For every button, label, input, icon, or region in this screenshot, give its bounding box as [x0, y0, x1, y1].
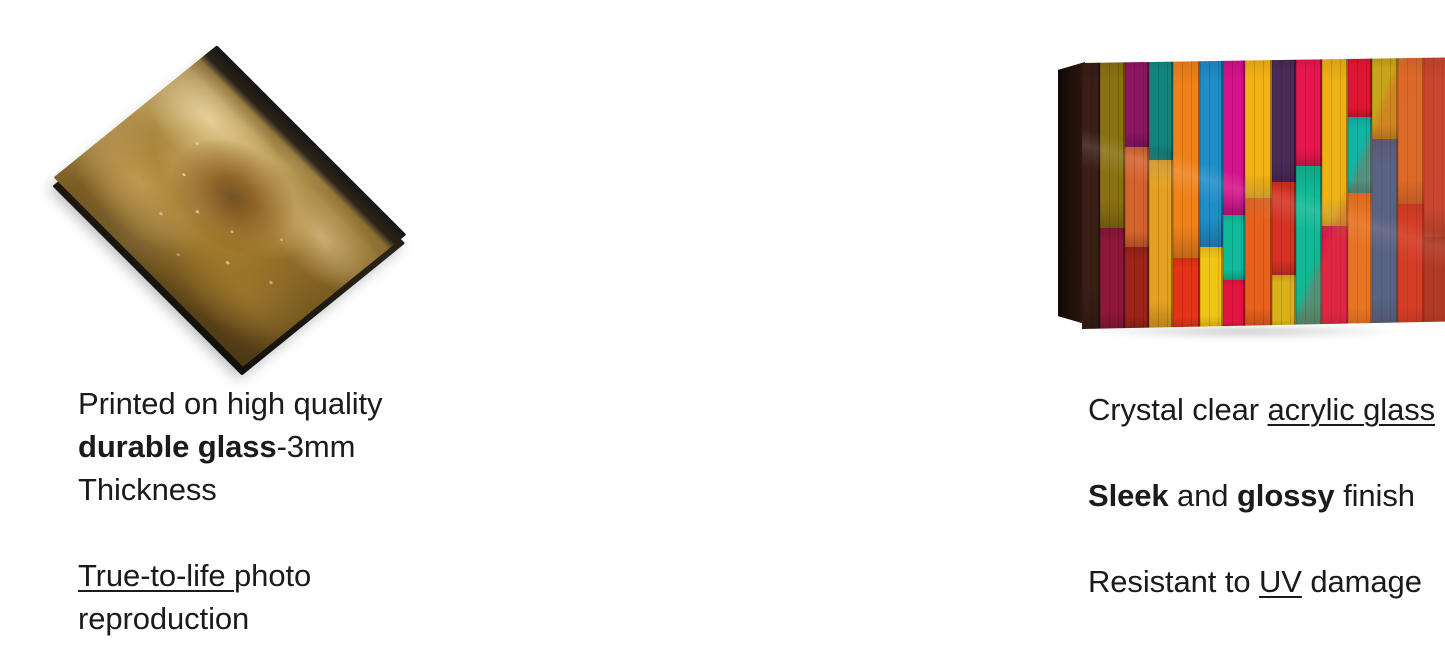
paragraph-gap	[78, 511, 478, 554]
feature-line: reproduction	[78, 597, 478, 640]
feature-column-ready-to-hang: Thewallartistry Ready-to-hang out of the…	[1010, 0, 1445, 660]
feature-line: durable glass-3mm	[78, 425, 478, 468]
product-feature-infographic: Printed on high quality durable glass-3m…	[0, 0, 1445, 660]
emphasis-bold: durable glass	[78, 429, 277, 464]
glass-print-image	[0, 30, 520, 350]
feature-text-glass: Printed on high quality durable glass-3m…	[78, 382, 478, 640]
feature-column-glass-print: Printed on high quality durable glass-3m…	[0, 0, 520, 660]
emphasis-underline: True-to-life	[78, 558, 234, 593]
feature-line: True-to-life photo	[78, 554, 478, 597]
glass-printed-surface	[54, 45, 407, 367]
golden-rose-glass-panel	[54, 45, 407, 367]
feature-line: Thickness	[78, 468, 478, 511]
feature-line: Printed on high quality	[78, 382, 478, 425]
feature-column-acrylic-canvas: Crystal clear acrylic glass Sleek and gl…	[520, 0, 1010, 660]
